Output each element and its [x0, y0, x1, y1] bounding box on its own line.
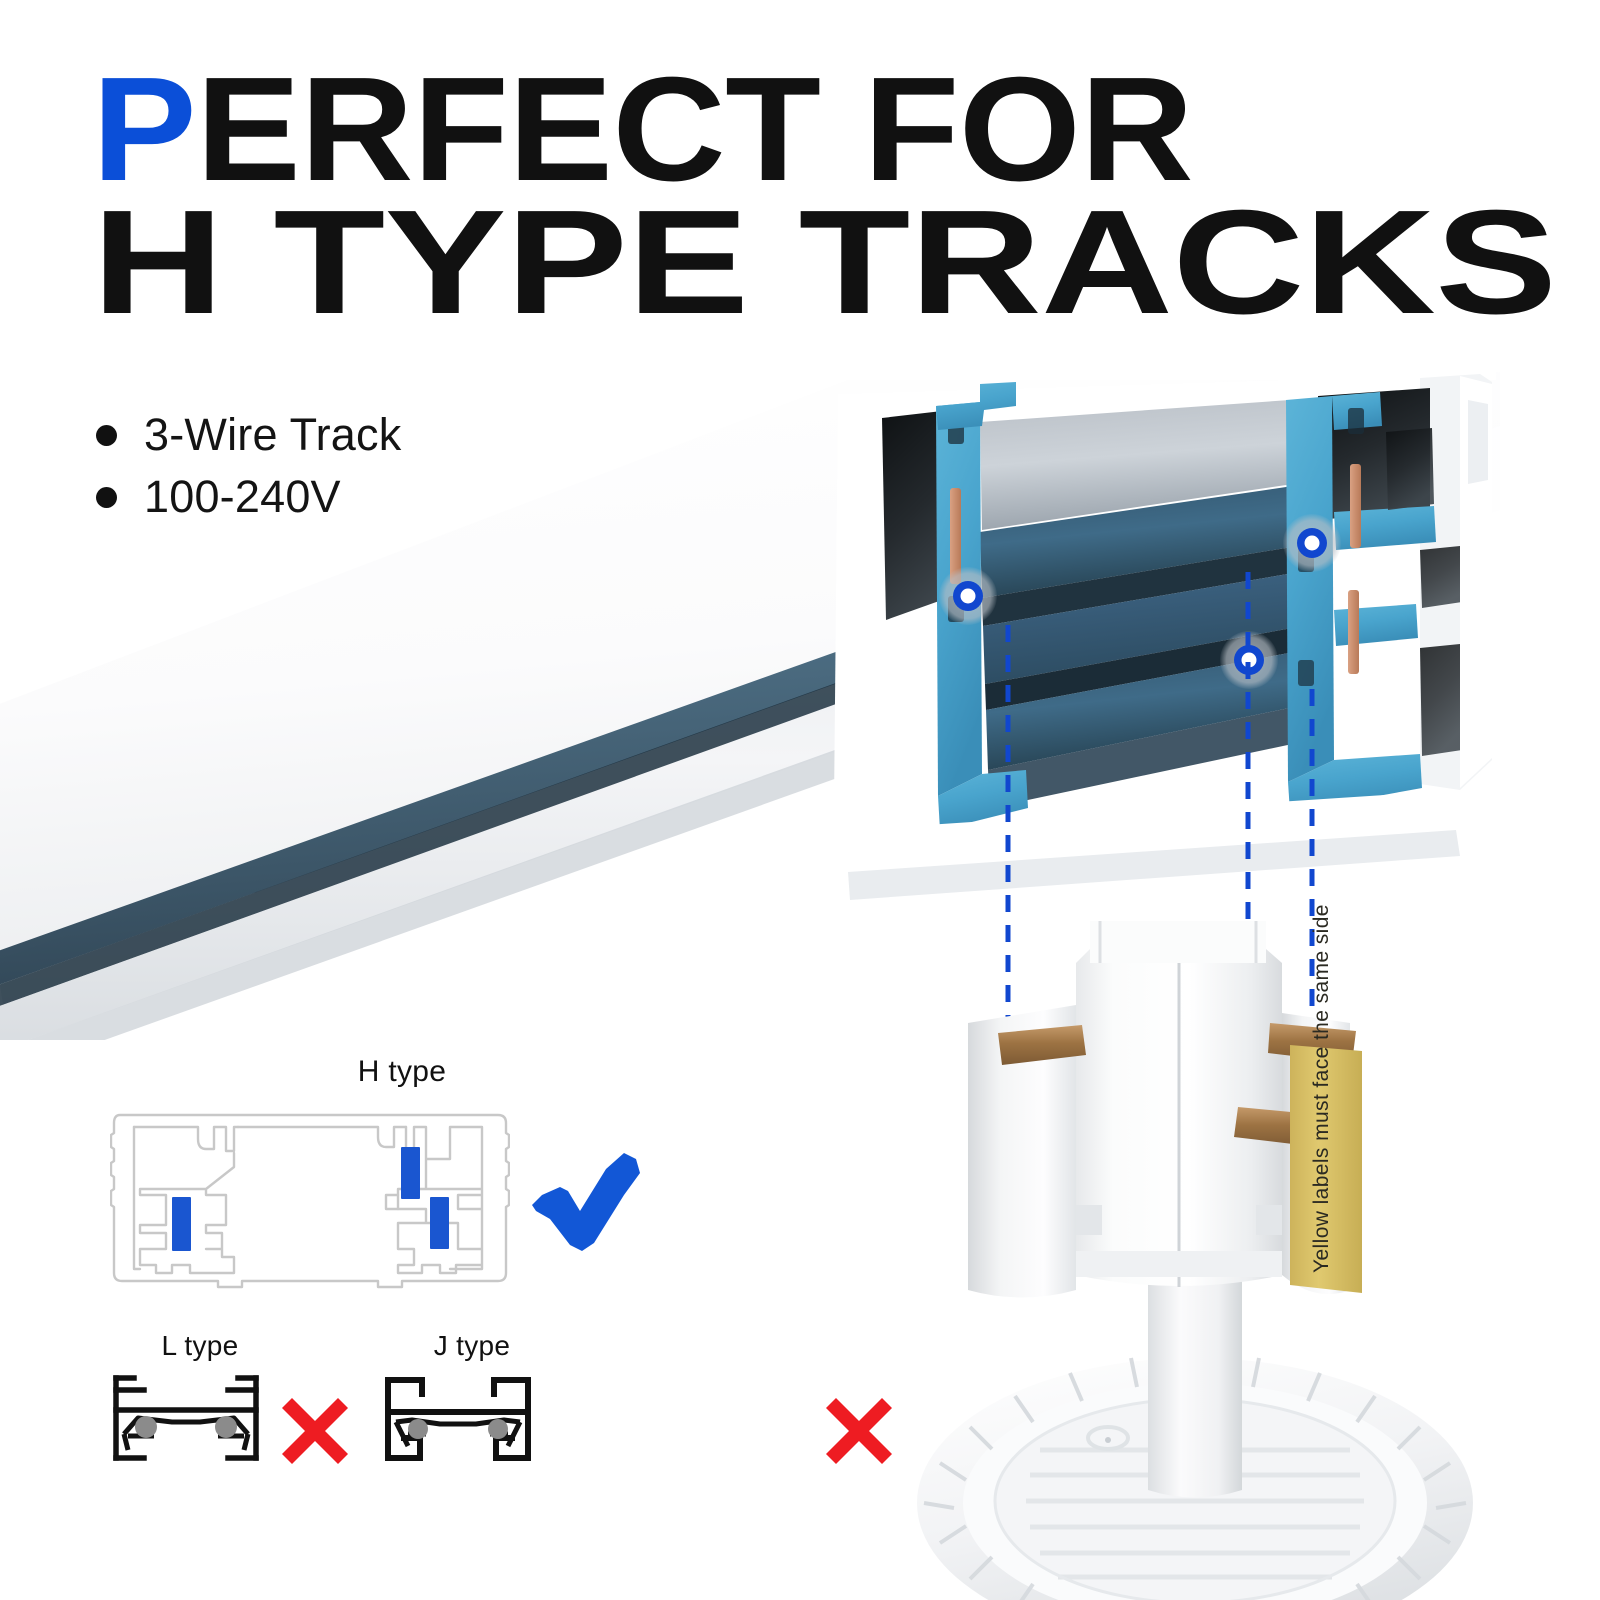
page-title: PERFECT FOR H TYPE TRACKS: [92, 66, 1542, 327]
cross-icon: [822, 1394, 896, 1468]
h-type-compatibility-block: H type: [110, 1055, 670, 1305]
cross-icon: [278, 1394, 352, 1468]
h-type-profile-icon: [110, 1097, 510, 1297]
j-type-item: J type: [382, 1330, 552, 1469]
track-adapter-illustration: Yellow labels must face the same side: [790, 905, 1600, 1600]
check-icon: [528, 1147, 650, 1257]
infographic-canvas: PERFECT FOR H TYPE TRACKS 3-Wire Track 1…: [0, 0, 1600, 1600]
adapter-warning-label: Yellow labels must face the same side: [1290, 905, 1362, 1293]
j-type-profile-icon: [382, 1372, 534, 1464]
l-type-item: L type: [110, 1330, 280, 1469]
l-type-profile-icon: [110, 1372, 262, 1464]
h-type-conductor-bars: [172, 1147, 449, 1251]
incompatible-types-row: L type: [110, 1330, 690, 1500]
adapter-warning-text: Yellow labels must face the same side: [1310, 905, 1333, 1273]
callout-marker-2: [1283, 514, 1341, 572]
track-cutaway-head: [830, 374, 1492, 900]
h-type-label: H type: [282, 1055, 522, 1089]
headline-line-2: H TYPE TRACKS: [92, 199, 1600, 326]
callout-marker-3: [1220, 631, 1278, 689]
l-type-label: L type: [120, 1330, 280, 1362]
callout-marker-1: [939, 567, 997, 625]
headline-line-1: PERFECT FOR: [92, 66, 1600, 193]
j-type-label: J type: [392, 1330, 552, 1362]
